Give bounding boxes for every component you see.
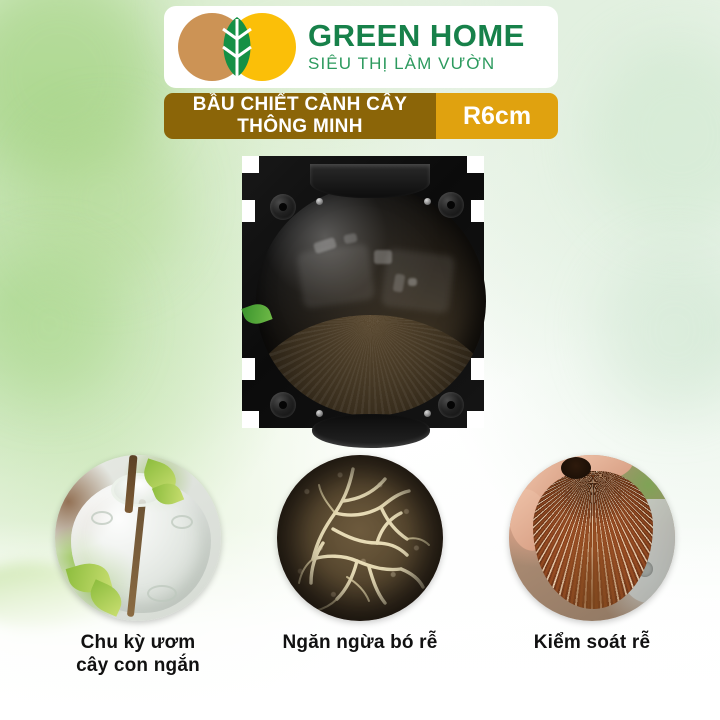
logo-leaf-icon <box>221 13 253 81</box>
product-hinge-bottom <box>312 414 430 448</box>
size-badge: R6cm <box>436 93 558 139</box>
product-hinge-top <box>310 164 430 198</box>
dome-highlight <box>374 250 392 264</box>
feature-image-hand-root-ball <box>509 455 675 621</box>
product-title-line1: BẦU CHIẾT CÀNH CÂY <box>193 94 407 116</box>
ball-vent-hole <box>171 515 193 529</box>
product-screw <box>424 410 431 417</box>
feature-caption: Kiểm soát rễ <box>504 631 680 654</box>
product-screw <box>316 410 323 417</box>
feature-photo-background <box>509 455 675 621</box>
frame-notch <box>471 358 484 380</box>
feature-photo-background <box>277 455 443 621</box>
product-frame <box>242 156 484 428</box>
product-hero-image <box>234 144 492 440</box>
product-boss <box>438 192 464 218</box>
red-root-ball <box>533 471 653 609</box>
frame-corner-cut <box>242 156 259 173</box>
product-screw <box>424 198 431 205</box>
feature-image-soil-ball-roots <box>277 455 443 621</box>
brand-logo-card: GREEN HOME SIÊU THỊ LÀM VƯỜN <box>164 6 558 88</box>
feature-caption: Chu kỳ ươm cây con ngắn <box>50 631 226 677</box>
frame-corner-cut <box>242 411 259 428</box>
product-title-line2: THÔNG MINH <box>237 116 362 138</box>
feature-item-root-control: Kiểm soát rễ <box>504 455 680 654</box>
ball-vent-hole <box>147 585 177 602</box>
dome-highlight <box>343 233 358 245</box>
root-ball-crown <box>561 457 591 479</box>
feature-image-clear-propagation-ball <box>55 455 221 621</box>
frame-notch <box>242 358 255 380</box>
product-title: BẦU CHIẾT CÀNH CÂY THÔNG MINH <box>164 93 436 139</box>
feature-item-short-cycle: Chu kỳ ươm cây con ngắn <box>50 455 226 677</box>
brand-name: GREEN HOME <box>308 20 525 52</box>
feature-photo-background <box>55 455 221 621</box>
product-dome <box>256 186 486 416</box>
ball-vent-hole <box>91 511 113 525</box>
frame-corner-cut <box>467 156 484 173</box>
dome-reflection <box>296 243 375 308</box>
feature-item-prevent-root-bound: Ngăn ngừa bó rễ <box>272 455 448 654</box>
feature-caption-line1: Chu kỳ ươm <box>50 631 226 654</box>
brand-logo-icon <box>170 7 306 87</box>
frame-notch <box>242 200 255 222</box>
feature-caption-line1: Kiểm soát rễ <box>504 631 680 654</box>
feature-caption-line2: cây con ngắn <box>50 654 226 677</box>
brand-tagline: SIÊU THỊ LÀM VƯỜN <box>308 53 525 74</box>
frame-corner-cut <box>467 411 484 428</box>
product-boss <box>438 392 464 418</box>
frame-notch <box>471 200 484 222</box>
header: GREEN HOME SIÊU THỊ LÀM VƯỜN BẦU CHIẾT C… <box>164 6 558 139</box>
dome-highlight <box>408 278 417 286</box>
product-title-bar: BẦU CHIẾT CÀNH CÂY THÔNG MINH R6cm <box>164 93 558 139</box>
product-screw <box>316 198 323 205</box>
feature-caption: Ngăn ngừa bó rễ <box>272 631 448 654</box>
brand-text-block: GREEN HOME SIÊU THỊ LÀM VƯỜN <box>306 20 525 75</box>
product-boss <box>270 194 296 220</box>
product-marketing-image: GREEN HOME SIÊU THỊ LÀM VƯỜN BẦU CHIẾT C… <box>0 0 720 720</box>
product-boss <box>270 392 296 418</box>
feature-caption-line1: Ngăn ngừa bó rễ <box>272 631 448 654</box>
soil-vignette <box>277 455 443 621</box>
